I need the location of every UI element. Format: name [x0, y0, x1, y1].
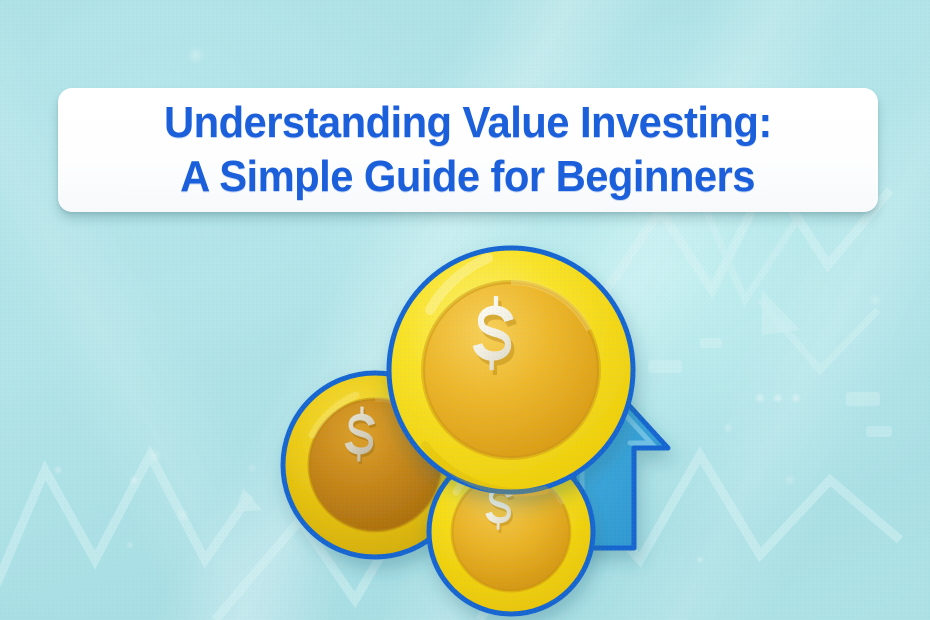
- title-line-2: A Simple Guide for Beginners: [181, 150, 756, 204]
- hero-banner: Understanding Value Investing: A Simple …: [0, 0, 930, 620]
- title-line-1: Understanding Value Investing:: [164, 96, 772, 150]
- title-card: Understanding Value Investing: A Simple …: [58, 88, 878, 212]
